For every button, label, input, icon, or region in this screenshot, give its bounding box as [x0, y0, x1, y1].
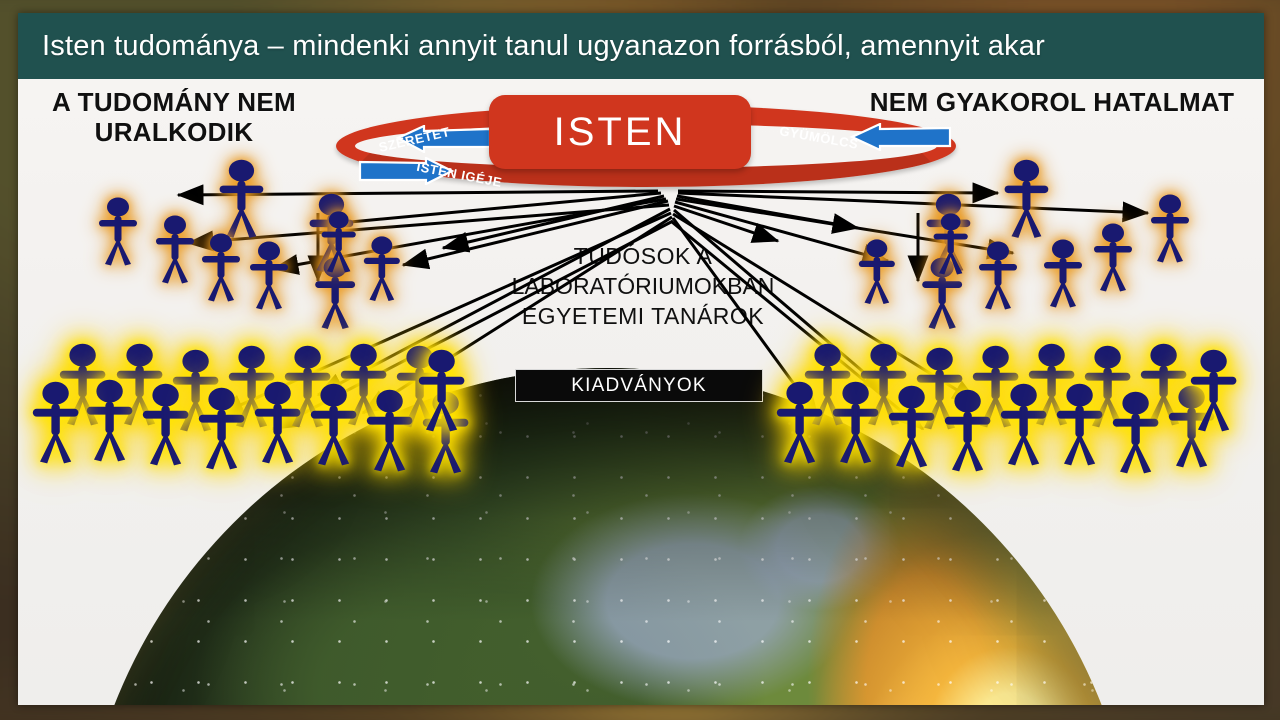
heading-science-does-not-rule: A TUDOMÁNY NEM URALKODIK [24, 87, 324, 147]
person-stick-figure-icon [930, 212, 971, 275]
person-stick-figure-icon [152, 214, 198, 284]
person-stick-figure-icon [360, 235, 404, 302]
person-stick-figure-icon [996, 382, 1051, 466]
person-stick-figure-icon [194, 386, 249, 470]
blue-arrow-icon-fruit [848, 123, 954, 151]
person-stick-figure-icon [138, 382, 193, 466]
person-stick-figure-icon [1147, 193, 1193, 263]
slide-stage: Isten tudománya – mindenki annyit tanul … [0, 0, 1280, 720]
center-line-professors: EGYETEMI TANÁROK [448, 301, 838, 331]
person-stick-figure-icon [1186, 348, 1241, 432]
person-stick-figure-icon [82, 378, 137, 462]
page-title: Isten tudománya – mindenki annyit tanul … [18, 30, 1045, 63]
person-stick-figure-icon [772, 380, 827, 464]
title-bar: Isten tudománya – mindenki annyit tanul … [18, 13, 1264, 79]
person-stick-figure-icon [28, 380, 83, 464]
publications-box: KIADVÁNYOK [515, 369, 763, 402]
person-stick-figure-icon [855, 238, 899, 305]
person-stick-figure-icon [250, 380, 305, 464]
person-stick-figure-icon [414, 348, 469, 432]
person-stick-figure-icon [95, 196, 141, 266]
slide-card: Isten tudománya – mindenki annyit tanul … [18, 13, 1264, 705]
god-node-box: ISTEN [489, 95, 751, 169]
person-stick-figure-icon [362, 388, 417, 472]
person-stick-figure-icon [884, 384, 939, 468]
person-stick-figure-icon [215, 158, 268, 239]
person-stick-figure-icon [1040, 238, 1086, 308]
person-stick-figure-icon [246, 240, 292, 310]
center-roles-text: TUDÓSOK A LABORATÓRIUMOKBAN EGYETEMI TAN… [448, 241, 838, 331]
person-stick-figure-icon [306, 382, 361, 466]
person-stick-figure-icon [1108, 390, 1163, 474]
person-stick-figure-icon [1052, 382, 1107, 466]
publications-label: KIADVÁNYOK [571, 375, 707, 397]
center-line-laboratories: LABORATÓRIUMOKBAN [448, 271, 838, 301]
person-stick-figure-icon [198, 232, 244, 302]
person-stick-figure-icon [1000, 158, 1053, 239]
person-stick-figure-icon [1090, 222, 1136, 292]
center-line-scientists: TUDÓSOK A [448, 241, 838, 271]
person-stick-figure-icon [318, 210, 359, 273]
god-node-label: ISTEN [554, 110, 687, 155]
person-stick-figure-icon [940, 388, 995, 472]
god-source-node: SZERETET ISTEN IGÉJE GYÜMÖLCS ISTEN [336, 105, 956, 187]
person-stick-figure-icon [975, 240, 1021, 310]
person-stick-figure-icon [828, 380, 883, 464]
